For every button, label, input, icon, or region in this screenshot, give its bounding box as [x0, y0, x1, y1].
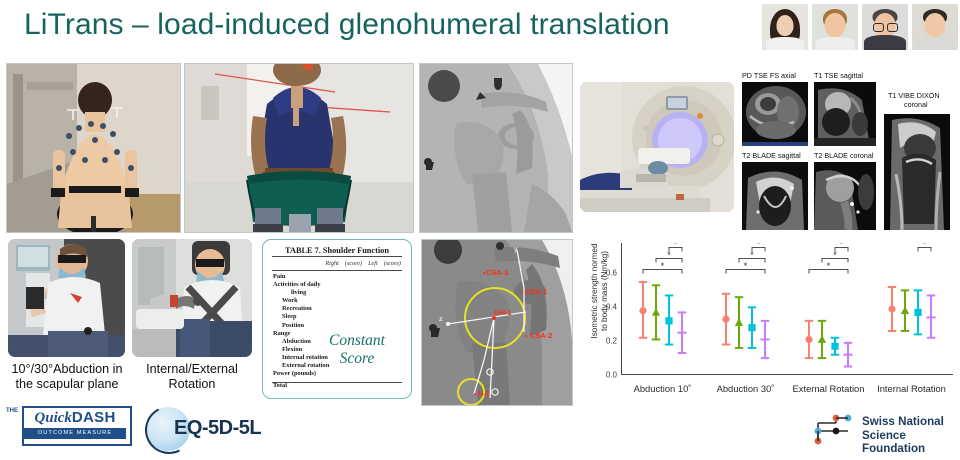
photo-motion-capture — [6, 63, 181, 233]
caption-abduction-line2: the scapular plane — [6, 377, 128, 392]
mri-pd-tse-fs-axial — [742, 82, 808, 146]
mri-t2-blade-coronal — [814, 162, 876, 230]
cs-row: living — [273, 289, 383, 297]
col-header-left: Left — [368, 260, 378, 267]
mri-label-t1-tse-sagittal: T1 TSE sagittal — [814, 72, 863, 80]
quickdash-logo: THE QuickDASH OUTCOME MEASURE — [6, 404, 130, 444]
col-header-right: Right — [325, 260, 338, 267]
constant-score-overlay: Constant Score — [311, 332, 403, 368]
caption-rotation-line1: Internal/External — [132, 362, 252, 377]
caption-abduction: 10°/30°Abduction in the scapular plane — [6, 362, 128, 392]
chart-x-tick: Abduction 10˚ — [634, 383, 692, 394]
svg-text:*: * — [827, 261, 831, 271]
col-header-right-score: (score) — [345, 260, 362, 267]
xray-label-csa-2: CSA-2 — [530, 331, 552, 340]
cs-row: Power (pounds) — [273, 370, 383, 378]
eq5d-logo: EQ-5D-5L — [146, 404, 264, 452]
cs-row: Activities of daily — [273, 281, 383, 289]
portrait-strip — [762, 4, 958, 50]
mri-label-t1-vibe-dixon-coronal-line2: coronal — [904, 101, 928, 109]
snsf-line1: Swiss National — [862, 415, 956, 429]
svg-text:*: * — [757, 243, 761, 249]
svg-text:*: * — [674, 243, 678, 249]
portrait-2 — [812, 4, 858, 50]
svg-text:*: * — [744, 261, 748, 271]
photo-xray-plain — [419, 63, 573, 233]
quickdash-subtitle: OUTCOME MEASURE — [24, 428, 126, 439]
chart-x-tick: Internal Rotation — [877, 383, 946, 394]
cs-row: Sleep — [273, 313, 383, 321]
chart-y-axis-label-line2: to body mass (Nm/kg) — [600, 232, 610, 350]
mri-t1-tse-sagittal — [814, 82, 876, 146]
svg-text:*: * — [840, 243, 844, 249]
svg-text:*: * — [923, 243, 927, 249]
photo-mri-scanner — [580, 82, 734, 212]
snsf-line2: Science Foundation — [862, 429, 956, 456]
chart-y-axis-label: Isometric strength normed to body mass (… — [590, 232, 610, 350]
page-title: LiTrans – load-induced glenohumeral tran… — [24, 8, 670, 42]
constant-score-overlay-line1: Constant — [311, 332, 403, 350]
cs-row: Position — [273, 322, 383, 330]
xray-axis-z: z — [439, 316, 443, 323]
snsf-wordmark: Swiss National Science Foundation — [862, 415, 956, 456]
caption-abduction-line1: 10°/30°Abduction in — [6, 362, 128, 377]
xray-label-csa-1: CSA-1 — [525, 287, 547, 296]
quickdash-quick: Quick — [34, 410, 72, 426]
constant-score-card: TABLE 7. Shoulder Function Right (score)… — [262, 239, 412, 399]
constant-score-table-title: TABLE 7. Shoulder Function — [263, 246, 411, 255]
chart-y-tick: 0.4 — [606, 303, 617, 312]
xray-axis-y: y — [514, 246, 518, 253]
portrait-3 — [862, 4, 908, 50]
quickdash-dash: DASH — [72, 409, 116, 426]
slide-root: LiTrans – load-induced glenohumeral tran… — [0, 0, 960, 457]
portrait-1 — [762, 4, 808, 50]
col-header-left-score: (score) — [384, 260, 401, 267]
chart-y-tick: 0.2 — [606, 337, 617, 346]
caption-rotation: Internal/External Rotation — [132, 362, 252, 392]
chart-y-tick: 0.0 — [606, 371, 617, 380]
constant-score-overlay-line2: Score — [311, 350, 403, 368]
chart-y-tick: 0.6 — [606, 269, 617, 278]
mri-t2-blade-sagittal — [742, 162, 808, 230]
xray-label-h-1: H-1 — [478, 389, 490, 398]
photo-xray-annotated: y z CSA-3 CSA-1 GH-1 CSA-2 H-1 — [421, 239, 573, 406]
photo-fluoroscopy-subject — [184, 63, 414, 233]
xray-label-gh-1: GH-1 — [494, 308, 512, 317]
eq5d-wordmark: EQ-5D-5L — [174, 417, 261, 440]
cs-row: Pain — [273, 273, 383, 281]
svg-text:*: * — [661, 261, 665, 271]
strength-chart: Isometric strength normed to body mass (… — [577, 237, 957, 405]
quickdash-wordmark: QuickDASH — [26, 409, 124, 427]
photo-dynamometer-rotation — [132, 239, 252, 357]
xray-label-csa-3: CSA-3 — [486, 268, 508, 277]
portrait-4 — [912, 4, 958, 50]
chart-y-axis-label-line1: Isometric strength normed — [590, 232, 600, 350]
cs-row: Recreation — [273, 305, 383, 313]
chart-x-tick: External Rotation — [793, 383, 865, 394]
mri-label-pd-tse-fs-axial: PD TSE FS axial — [742, 72, 796, 80]
chart-canvas: ********** — [621, 243, 953, 375]
mri-label-t2-blade-sagittal: T2 BLADE sagittal — [742, 152, 801, 160]
mri-label-t2-blade-coronal: T2 BLADE coronal — [814, 152, 874, 160]
cs-row: Work — [273, 297, 383, 305]
chart-x-tick: Abduction 30˚ — [717, 383, 775, 394]
photo-dynamometer-abduction — [8, 239, 125, 357]
quickdash-the: THE — [6, 408, 18, 414]
constant-score-column-headers: Right (score) Left (score) — [325, 260, 401, 267]
caption-rotation-line2: Rotation — [132, 377, 252, 392]
snsf-logo: Swiss National Science Foundation — [812, 410, 956, 450]
mri-panel: PD TSE FS axial T1 TSE sagittal — [738, 70, 960, 232]
chart-plot-area: ********** 0.00.20.40.6 Abduction 10˚Abd… — [621, 243, 953, 375]
snsf-node-icon — [812, 413, 856, 447]
cs-row: Total — [273, 382, 383, 390]
mri-t1-vibe-dixon-coronal — [884, 114, 950, 230]
